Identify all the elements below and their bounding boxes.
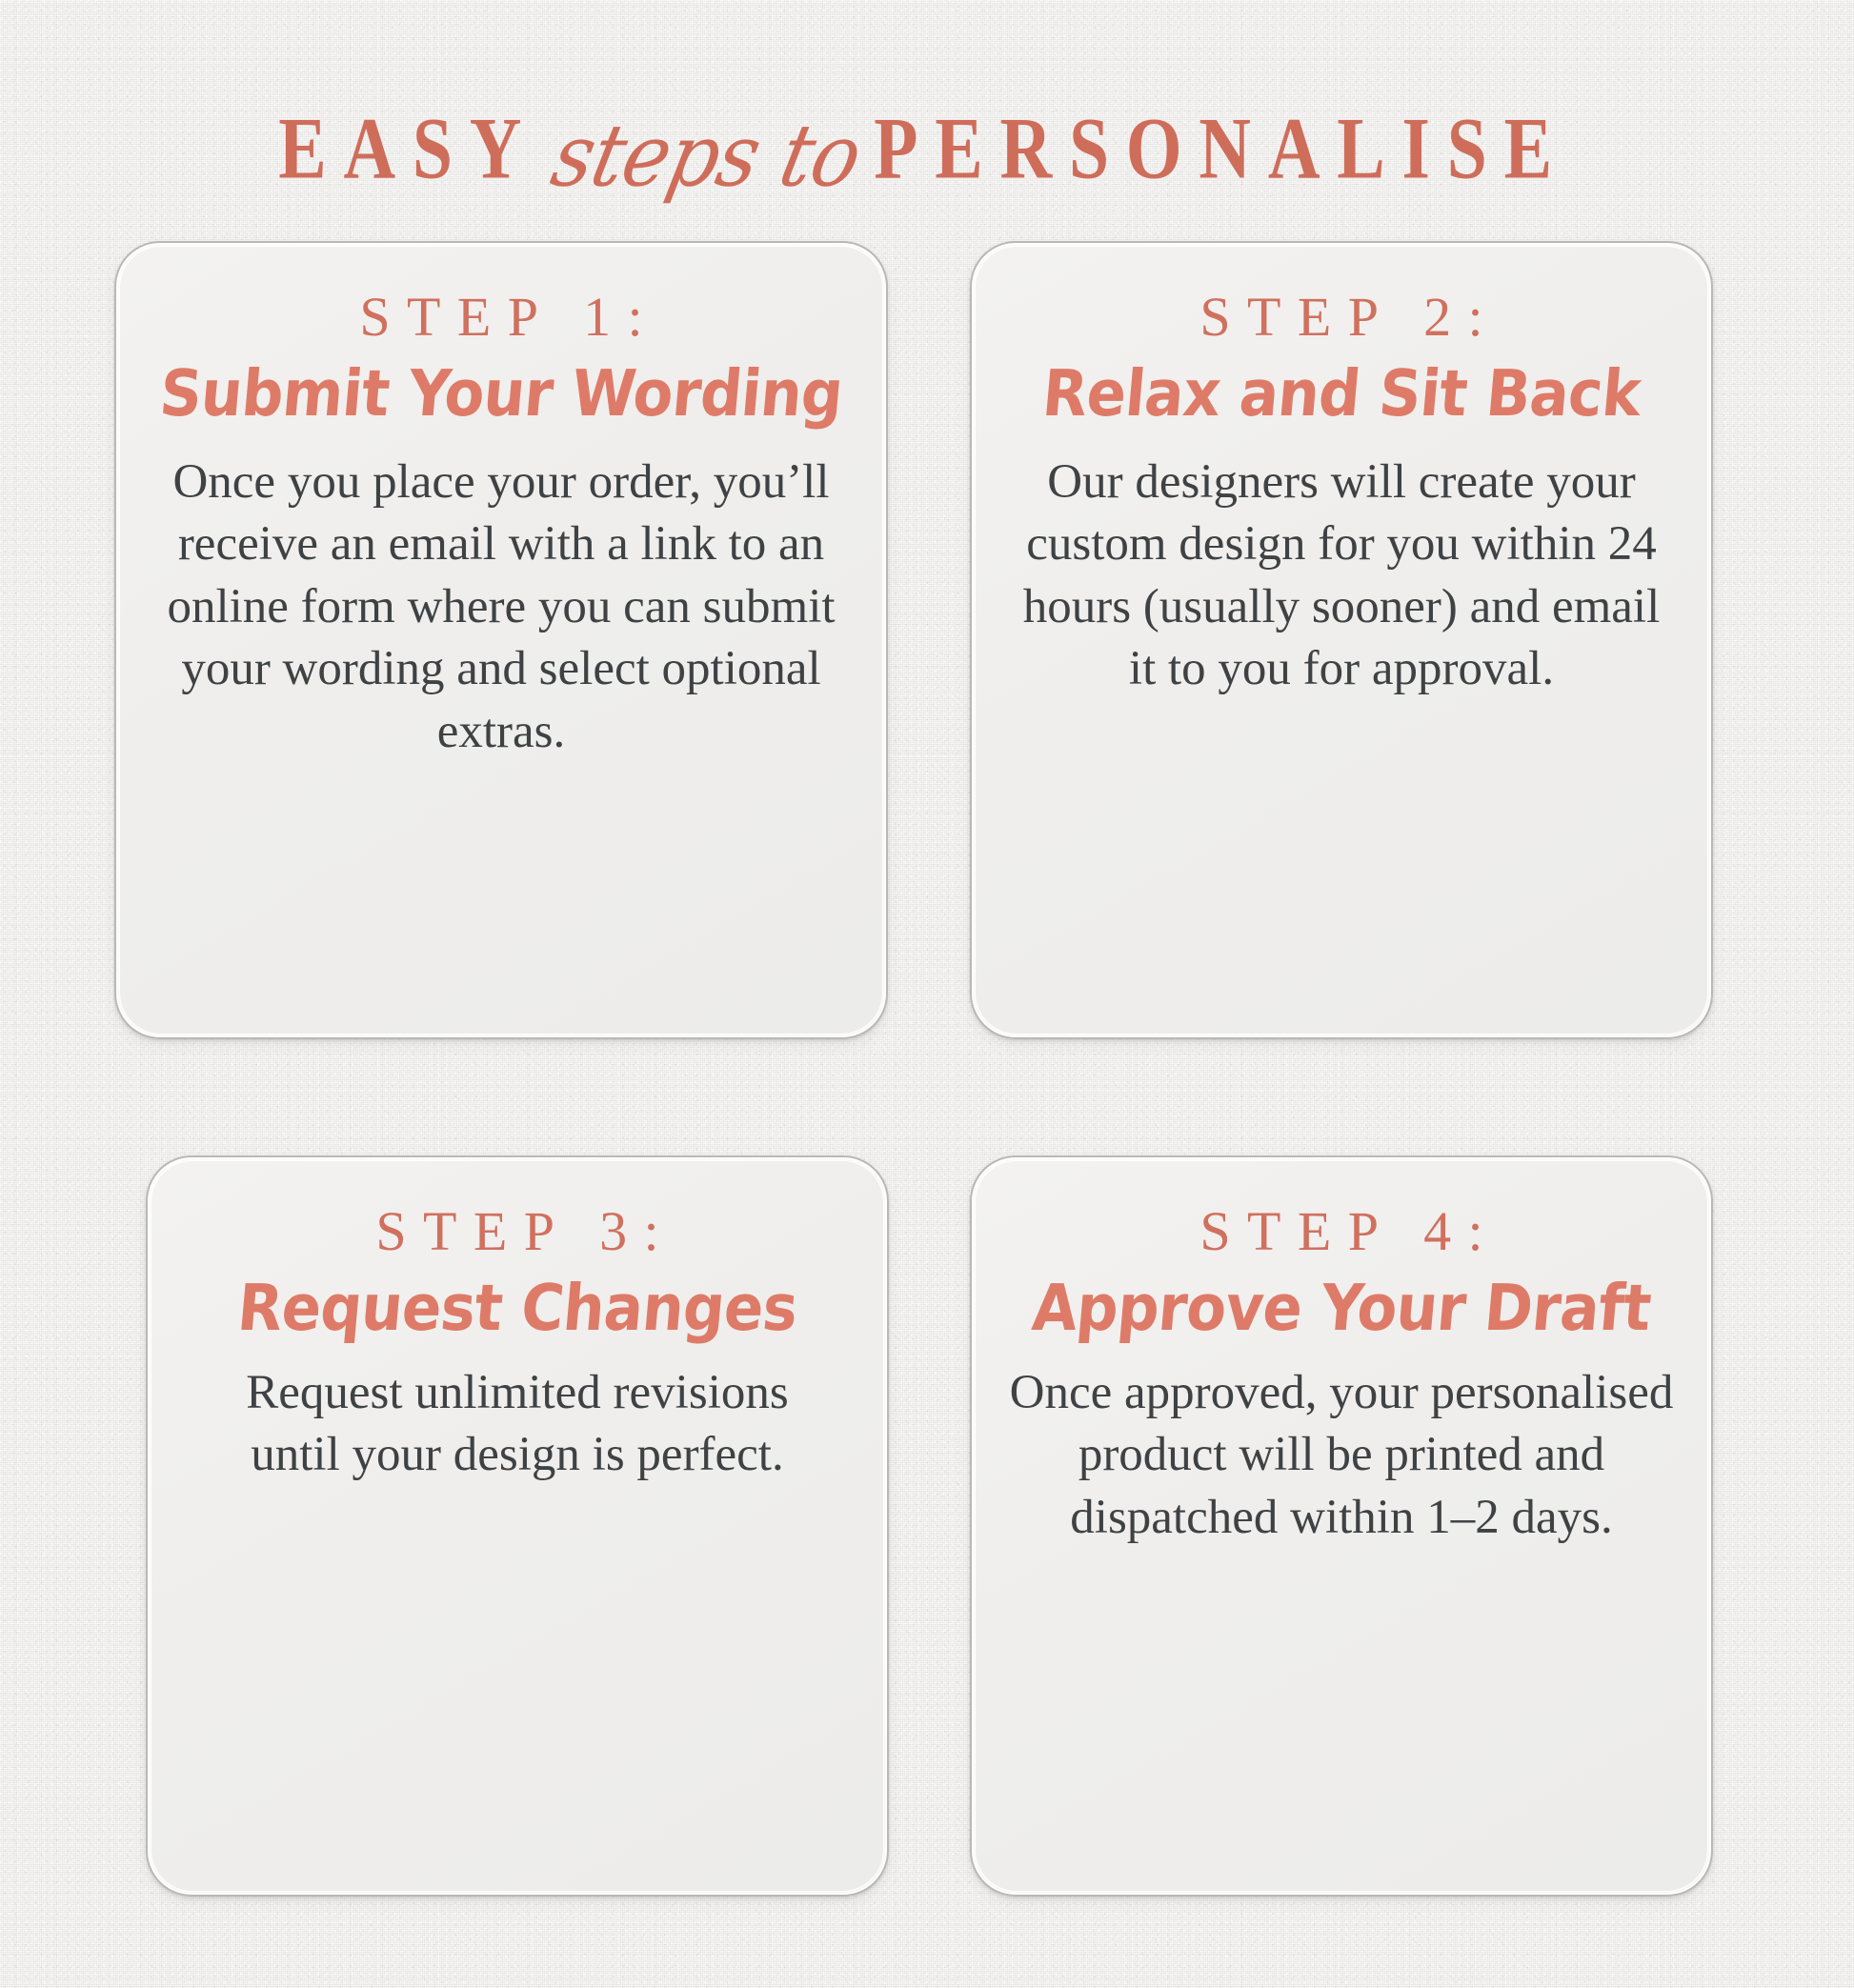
step-card-1: STEP 1: Submit Your Wording Once you pla…: [114, 241, 888, 1039]
step-4-title: Approve Your Draft: [998, 1273, 1686, 1344]
step-1-label: STEP 1:: [145, 283, 857, 352]
step-card-4: STEP 4: Approve Your Draft Once approved…: [970, 1155, 1713, 1897]
page-title-word-personalise: PERSONALISE: [874, 105, 1569, 192]
step-2-label: STEP 2:: [1000, 283, 1683, 352]
step-3-label: STEP 3:: [176, 1197, 858, 1267]
page-title-script-steps-to: steps to: [545, 114, 868, 200]
step-4-label: STEP 4:: [1000, 1197, 1683, 1267]
page-title: EASYsteps toPERSONALISE: [0, 116, 1854, 194]
step-1-title: Submit Your Wording: [142, 358, 861, 430]
step-card-3: STEP 3: Request Changes Request unlimite…: [146, 1155, 889, 1897]
step-card-2: STEP 2: Relax and Sit Back Our designers…: [970, 241, 1713, 1039]
page-title-word-easy: EASY: [278, 105, 538, 192]
steps-to-personalise-infographic: EASYsteps toPERSONALISE STEP 1: Submit Y…: [0, 0, 1854, 1988]
step-2-title: Relax and Sit Back: [998, 358, 1686, 430]
step-3-body: Request unlimited revisions until your d…: [176, 1362, 858, 1487]
step-1-body: Once you place your order, you’ll receiv…: [145, 452, 857, 764]
step-2-body: Our designers will create your custom de…: [1000, 452, 1683, 701]
step-3-title: Request Changes: [173, 1273, 862, 1344]
step-4-body: Once approved, your personalised product…: [1000, 1362, 1683, 1550]
